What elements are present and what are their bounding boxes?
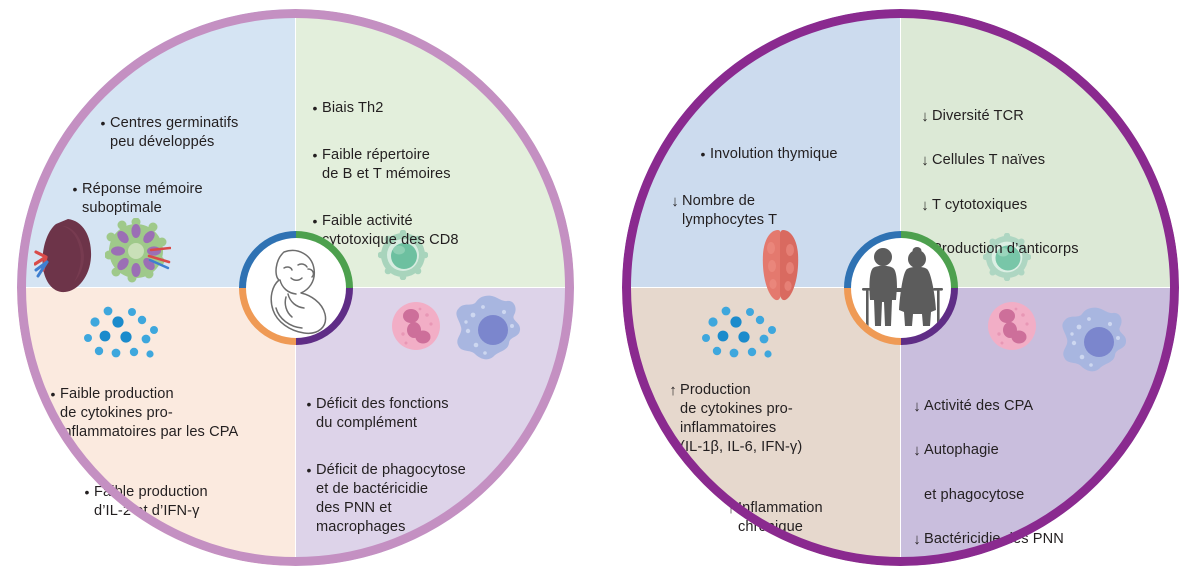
list-item: ↑ Inflammation chronique	[724, 499, 896, 537]
infant-silhouette-icon	[246, 238, 346, 338]
list-item: ↑ Production de cytokines pro- inflammat…	[666, 381, 896, 457]
text-elderly-bottom-right: ↓ Activité des CPA ↓ Autophagie et phago…	[910, 378, 1140, 568]
neutrophil-pink-icon	[986, 300, 1038, 357]
bullet-icon: •	[696, 145, 710, 163]
arrow-down-icon: ↓	[910, 441, 924, 461]
list-item: • Biais Th2	[308, 99, 528, 118]
arrow-down-icon: ↓	[918, 196, 932, 216]
list-item: ↓ Bactéricidie des PNN	[910, 530, 1140, 550]
list-item: ↓ T cytotoxiques	[918, 196, 1138, 216]
hub-elderly	[837, 224, 965, 352]
elderly-couple-silhouette-icon	[851, 238, 951, 338]
list-item: • Faible production d’IL-2 et d’IFN-γ	[80, 483, 296, 521]
arrow-down-icon: ↓	[918, 107, 932, 127]
bullet-icon: •	[96, 114, 110, 132]
list-item: • Faible production de cytokines pro- in…	[46, 385, 296, 442]
list-item: et phagocytose	[924, 486, 1140, 505]
text-elderly-bottom-left: ↑ Production de cytokines pro- inflammat…	[666, 362, 896, 556]
bullet-icon: •	[308, 146, 322, 164]
arrow-up-icon: ↑	[666, 381, 680, 401]
text-infant-bottom-right: • Déficit des fonctions du complément • …	[302, 376, 524, 556]
list-item: • Déficit des fonctions du complément	[302, 395, 524, 433]
list-item: • Centres germinatifs peu développés	[96, 114, 283, 152]
list-item: ↓ Autophagie	[910, 441, 1140, 461]
cytokine-dots-icon	[84, 305, 164, 372]
bullet-icon: •	[302, 461, 316, 479]
bullet-icon: •	[46, 385, 60, 403]
neutrophil-pink-icon	[390, 300, 442, 357]
bullet-icon: •	[302, 395, 316, 413]
bullet-icon: •	[68, 180, 82, 198]
list-item: ↓ Cellules T naïves	[918, 151, 1138, 171]
text-infant-top-left: • Centres germinatifs peu développés • R…	[68, 95, 283, 237]
bullet-icon: •	[308, 99, 322, 117]
text-infant-bottom-left: • Faible production de cytokines pro- in…	[46, 366, 296, 540]
arrow-up-icon: ↑	[724, 499, 738, 519]
list-item: ↓ Activité des CPA	[910, 397, 1140, 417]
arrow-down-icon: ↓	[668, 192, 682, 212]
macrophage-blue-icon	[1058, 305, 1130, 382]
list-item: • Réponse mémoire suboptimale	[68, 180, 283, 218]
arrow-down-icon: ↓	[910, 530, 924, 550]
list-item: • Faible répertoire de B et T mémoires	[308, 146, 528, 184]
arrow-down-icon: ↓	[910, 397, 924, 417]
hub-infant	[232, 224, 360, 352]
bullet-icon: •	[80, 483, 94, 501]
arrow-down-icon: ↓	[918, 151, 932, 171]
figure-canvas: • Centres germinatifs peu développés • R…	[0, 0, 1200, 578]
macrophage-blue-icon	[452, 293, 524, 370]
list-item: • Déficit de phagocytose et de bactérici…	[302, 461, 524, 537]
list-item: • Involution thymique	[696, 145, 893, 164]
list-item: ↓ Diversité TCR	[918, 107, 1138, 127]
